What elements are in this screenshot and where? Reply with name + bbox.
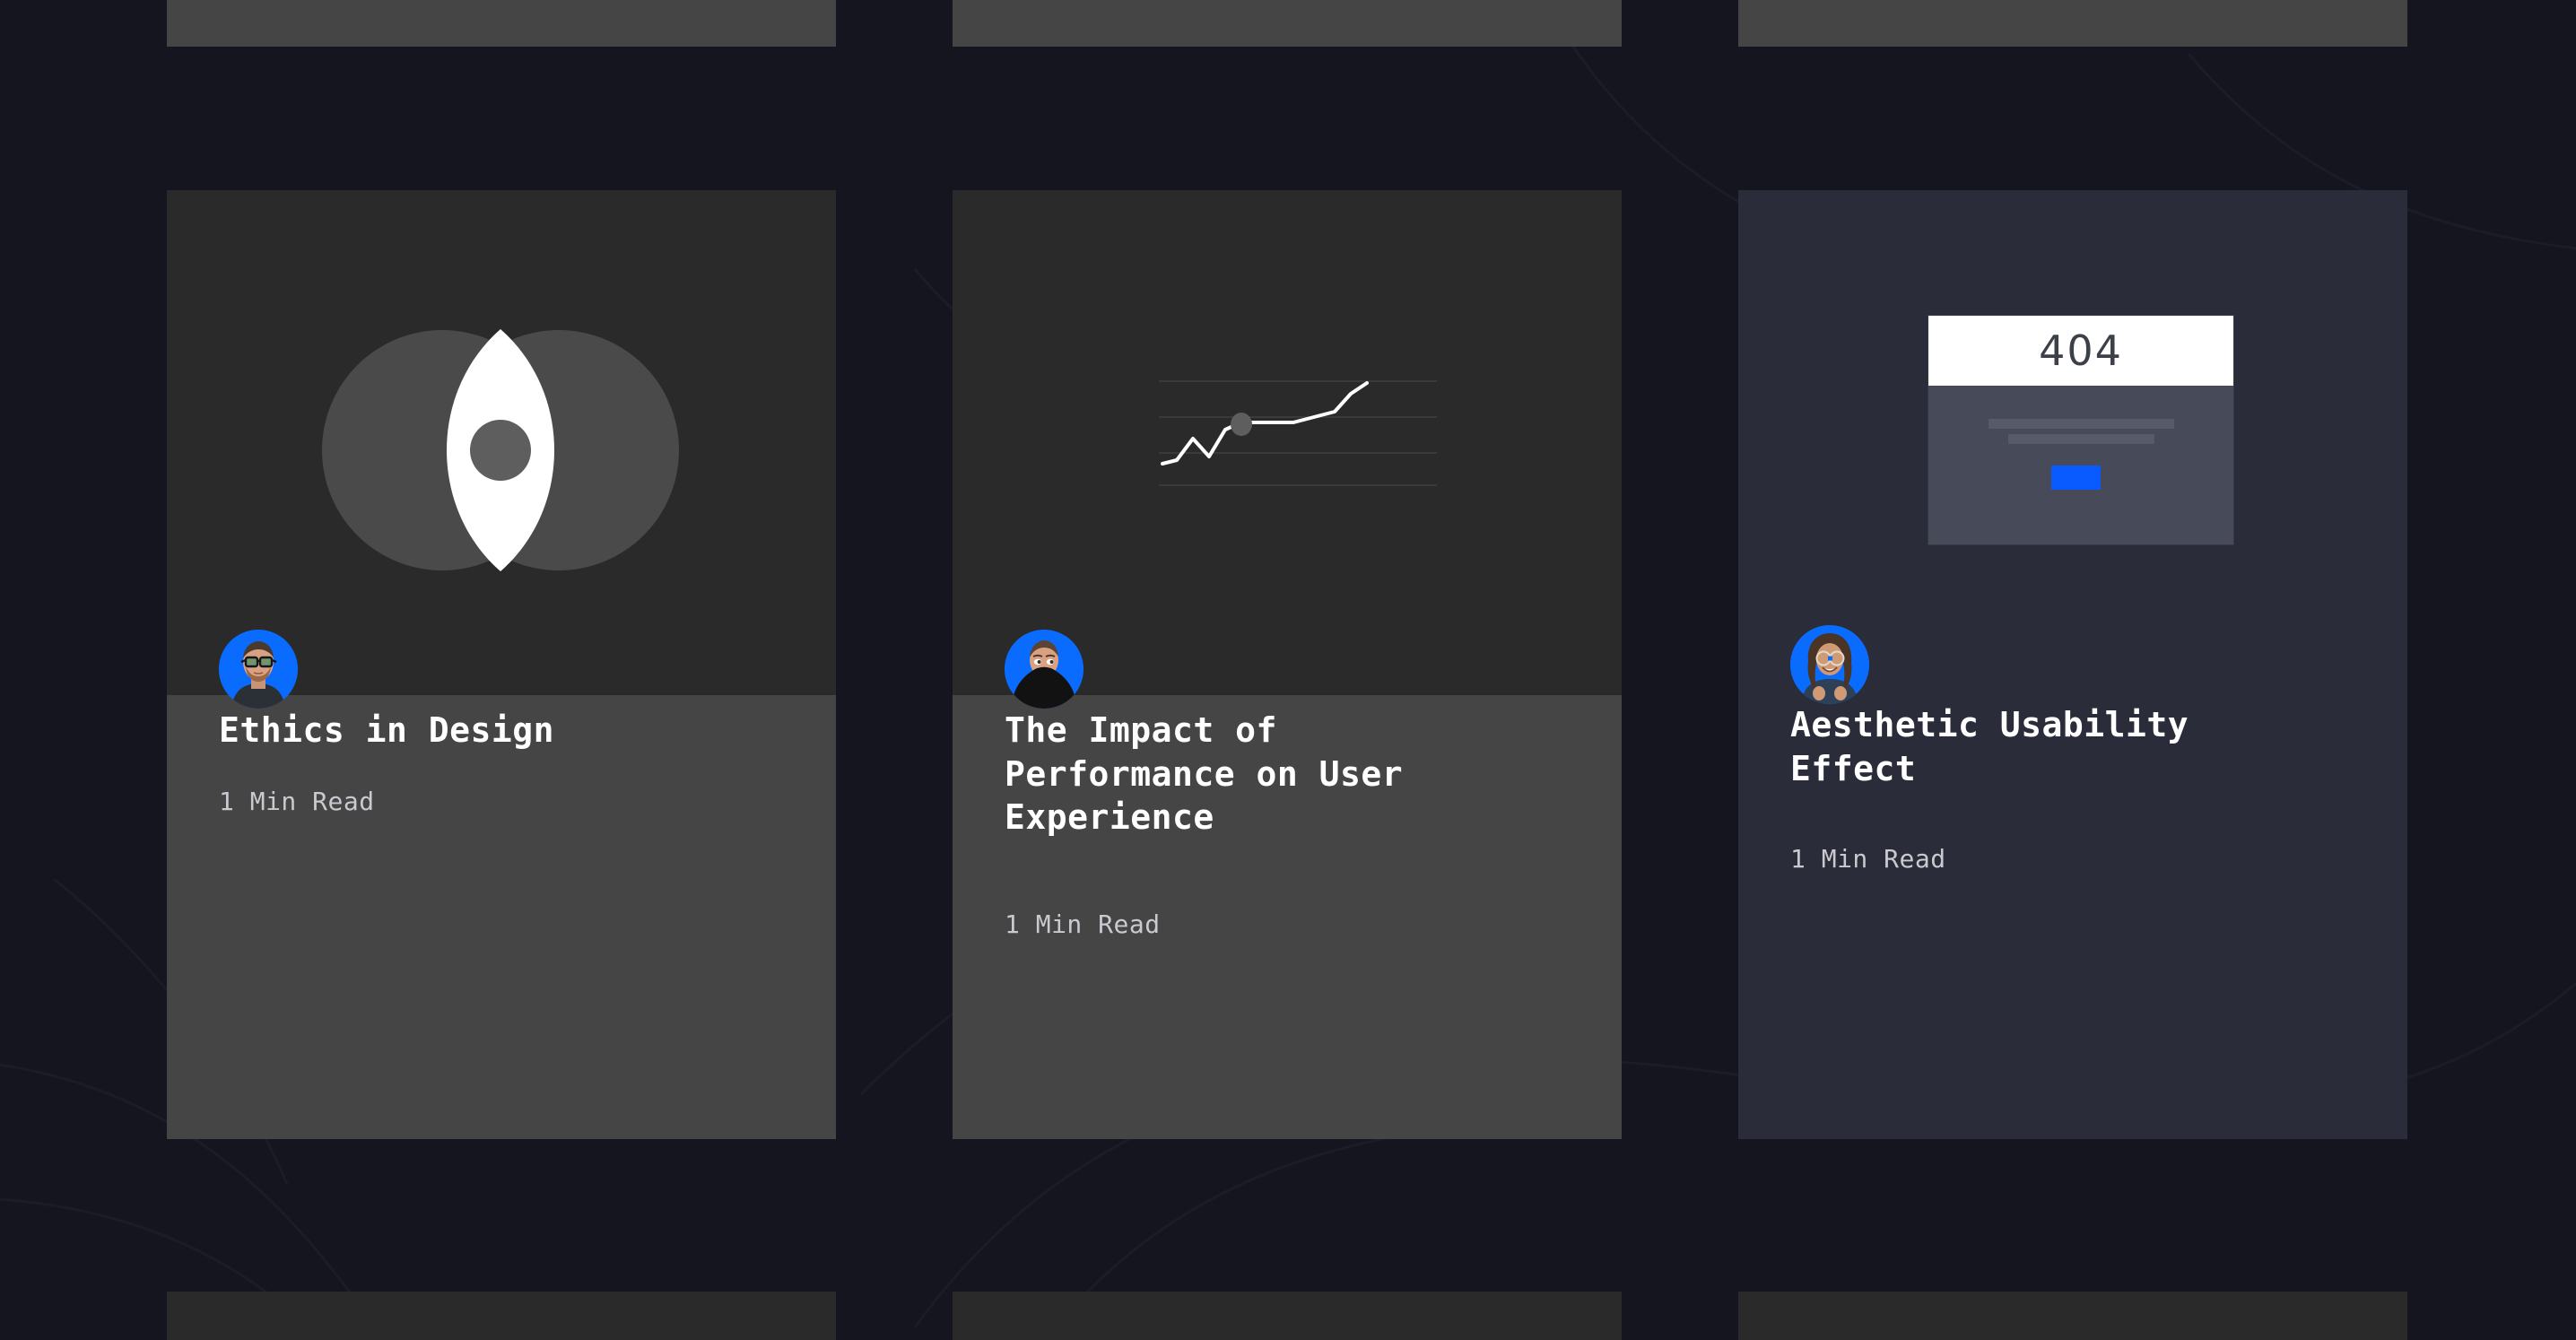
placeholder-cta-button[interactable] — [2051, 466, 2101, 490]
card-title: Aesthetic Usability Effect — [1790, 703, 2364, 790]
partial-card-bottom-1[interactable] — [167, 1292, 836, 1340]
avatar-man-glasses-beard-icon — [219, 630, 298, 709]
card-title: The Impact of Performance on User Experi… — [1005, 709, 1579, 840]
card-read-time: 1 Min Read — [219, 787, 375, 816]
placeholder-line-1 — [1989, 419, 2174, 429]
article-card-ethics-in-design[interactable]: Ethics in Design 1 Min Read — [167, 190, 836, 1139]
browser-404-icon: 404 — [1928, 316, 2233, 544]
partial-card-top-2[interactable] — [953, 0, 1622, 47]
partial-card-top-3[interactable] — [1738, 0, 2407, 47]
article-grid-page: Ethics in Design 1 Min Read — [0, 0, 2576, 1340]
line-chart-icon — [1159, 374, 1437, 491]
article-card-impact-of-performance[interactable]: The Impact of Performance on User Experi… — [953, 190, 1622, 1139]
venn-eye-icon — [303, 311, 698, 589]
card-title: Ethics in Design — [219, 709, 793, 753]
avatar — [1790, 625, 1869, 704]
placeholder-line-2 — [2008, 434, 2154, 444]
browser-404-titlebar: 404 — [1928, 316, 2233, 386]
card-read-time: 1 Min Read — [1005, 909, 1161, 939]
avatar-person-curly-hair-glasses-icon — [1790, 625, 1869, 704]
avatar — [219, 630, 298, 709]
partial-card-top-1[interactable] — [167, 0, 836, 47]
card-body-area — [167, 695, 836, 1139]
partial-card-bottom-2[interactable] — [953, 1292, 1622, 1340]
error-code-label: 404 — [2039, 326, 2123, 375]
card-read-time: 1 Min Read — [1790, 844, 1946, 874]
avatar-person-covered-face-icon — [1005, 630, 1083, 709]
partial-card-bottom-3[interactable] — [1738, 1292, 2407, 1340]
article-card-aesthetic-usability-effect[interactable]: 404 — [1738, 190, 2407, 1139]
avatar — [1005, 630, 1083, 709]
